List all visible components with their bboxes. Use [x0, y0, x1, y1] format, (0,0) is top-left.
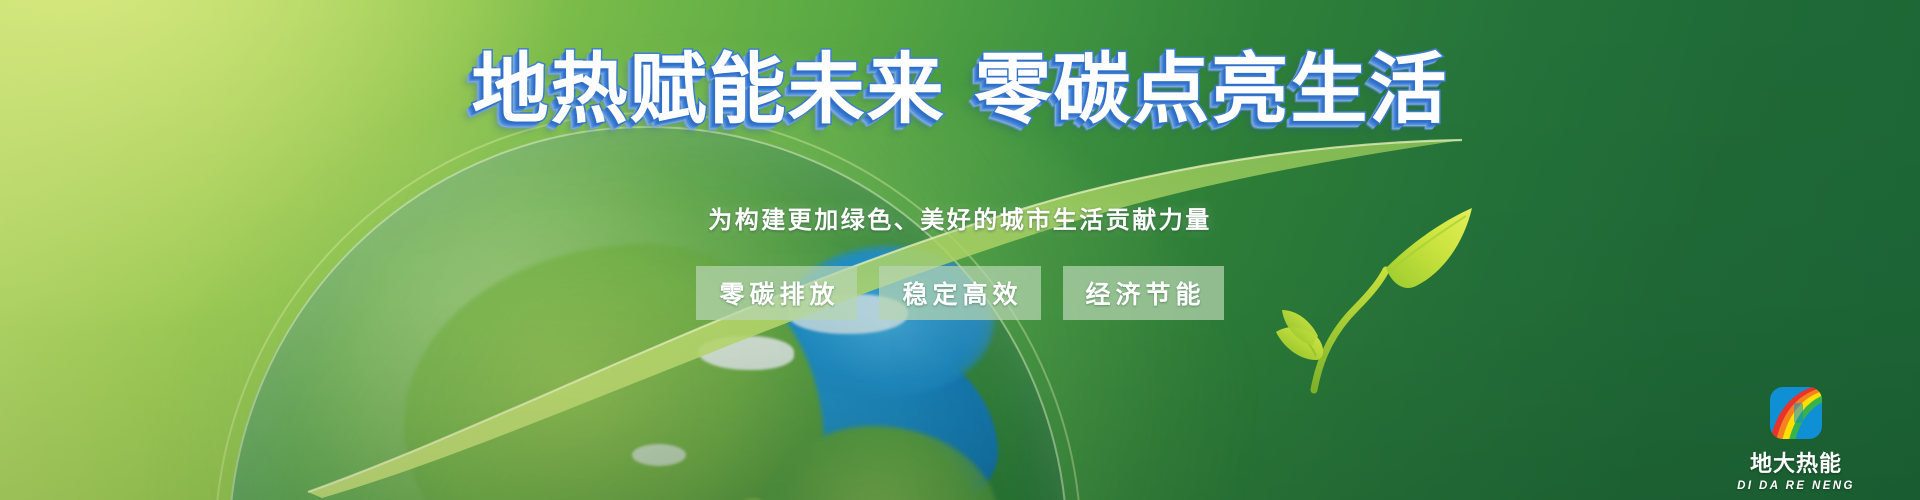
feature-badge-stable-efficient[interactable]: 稳定高效: [879, 266, 1040, 320]
feature-badge-zero-carbon[interactable]: 零碳排放: [696, 266, 857, 320]
promo-banner: 地热赋能未来 零碳点亮生活 为构建更加绿色、美好的城市生活贡献力量 零碳排放 稳…: [0, 0, 1920, 500]
brand-logo[interactable]: 地大热能 DI DA RE NENG: [1734, 386, 1858, 492]
brand-name-en: DI DA RE NENG: [1737, 480, 1855, 492]
banner-title: 地热赋能未来 零碳点亮生活: [0, 52, 1920, 129]
feature-badge-economical[interactable]: 经济节能: [1063, 266, 1224, 320]
brand-name-cn: 地大热能: [1750, 446, 1842, 478]
feature-badge-list: 零碳排放 稳定高效 经济节能: [0, 266, 1920, 320]
rainbow-arc-in-rounded-square-icon: [1769, 386, 1823, 440]
banner-subtitle: 为构建更加绿色、美好的城市生活贡献力量: [0, 200, 1920, 235]
